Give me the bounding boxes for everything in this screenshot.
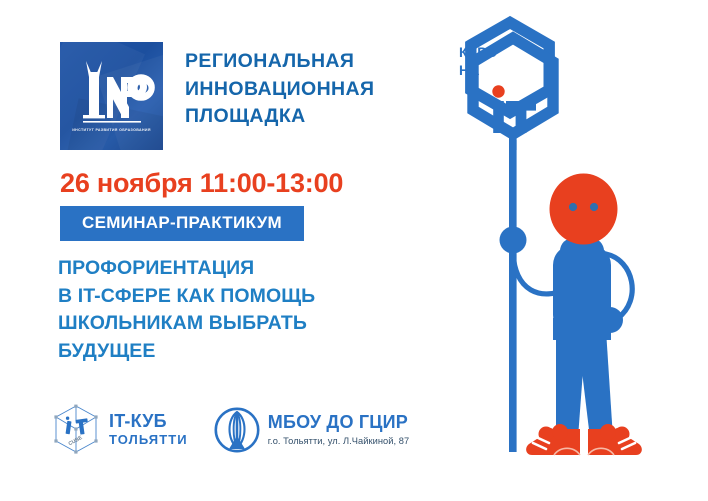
heading-line-2: ИННОВАЦИОННАЯ <box>185 76 374 104</box>
iro-logo: ИНСТИТУТ РАЗВИТИЯ ОБРАЗОВАНИЯ <box>60 42 163 150</box>
gcir-labels: МБОУ ДО ГЦИР г.о. Тольятти, ул. Л.Чайкин… <box>268 413 409 447</box>
gcir-circle-icon <box>214 406 260 454</box>
heading-line-1: РЕГИОНАЛЬНАЯ <box>185 48 374 76</box>
left-content-column: ИНСТИТУТ РАЗВИТИЯ ОБРАЗОВАНИЯ РЕГИОНАЛЬН… <box>0 0 420 501</box>
iro-monogram-icon <box>69 55 155 137</box>
heading-line-3: ПЛОЩАДКА <box>185 103 374 131</box>
eye-left <box>569 203 577 211</box>
organization-gcir: МБОУ ДО ГЦИР г.о. Тольятти, ул. Л.Чайкин… <box>214 406 409 454</box>
page-title: РЕГИОНАЛЬНАЯ ИННОВАЦИОННАЯ ПЛОЩАДКА <box>185 42 374 131</box>
title-line-1: ПРОФОРИЕНТАЦИЯ <box>58 255 315 283</box>
it-logo-mark <box>486 84 544 140</box>
right-leg <box>577 330 613 438</box>
iro-logo-caption: ИНСТИТУТ РАЗВИТИЯ ОБРАЗОВАНИЯ <box>72 128 151 132</box>
poster-canvas: ИНСТИТУТ РАЗВИТИЯ ОБРАЗОВАНИЯ РЕГИОНАЛЬН… <box>0 0 708 501</box>
header-row: ИНСТИТУТ РАЗВИТИЯ ОБРАЗОВАНИЯ РЕГИОНАЛЬН… <box>60 42 374 150</box>
head <box>550 174 618 245</box>
flag-label-line-2: НА <box>459 62 497 80</box>
title-line-3: ШКОЛЬНИКАМ ВЫБРАТЬ <box>58 310 315 338</box>
event-title: ПРОФОРИЕНТАЦИЯ В IT-СФЕРЕ КАК ПОМОЩЬ ШКО… <box>58 255 315 366</box>
event-date-time: 26 ноября 11:00-13:00 <box>60 168 343 199</box>
it-dot-icon <box>492 85 504 97</box>
it-cube-subtitle: ТОЛЬЯТТИ <box>109 432 188 448</box>
title-line-2: В IT-СФЕРЕ КАК ПОМОЩЬ <box>58 283 315 311</box>
eye-right <box>590 203 598 211</box>
flag-label-line-1: КУРС <box>459 44 497 62</box>
footer-organizations: CUBE IT-КУБ ТОЛЬЯТТИ <box>52 404 409 456</box>
it-cube-name: IT-КУБ <box>109 412 188 431</box>
gcir-name: МБОУ ДО ГЦИР <box>268 413 409 432</box>
it-cube-hexagon-icon: CUBE <box>52 404 100 456</box>
flag-pole <box>509 140 517 452</box>
it-cube-labels: IT-КУБ ТОЛЬЯТТИ <box>109 412 188 448</box>
title-line-4: БУДУЩЕЕ <box>58 338 315 366</box>
gcir-address: г.о. Тольятти, ул. Л.Чайкиной, 87 <box>268 435 409 447</box>
organization-it-cube: CUBE IT-КУБ ТОЛЬЯТТИ <box>52 404 188 456</box>
status-badge: СЕМИНАР-ПРАКТИКУМ <box>60 206 304 241</box>
illustration-figure-with-flag: КУРС НА <box>420 0 708 501</box>
flag-label: КУРС НА <box>459 44 497 80</box>
